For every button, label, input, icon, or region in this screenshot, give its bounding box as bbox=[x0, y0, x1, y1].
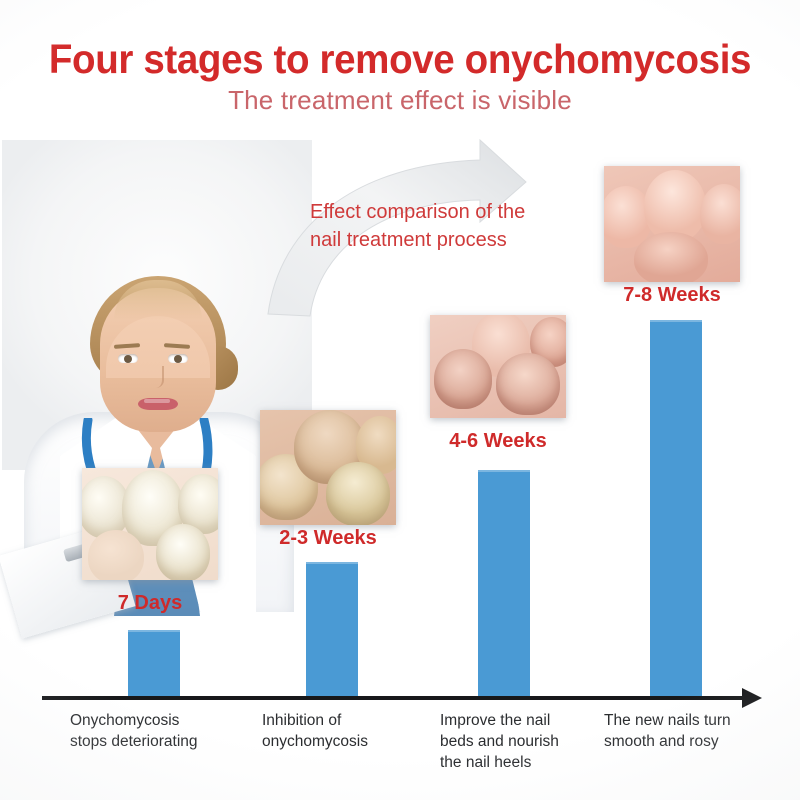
infographic-canvas: Four stages to remove onychomycosis The … bbox=[0, 0, 800, 800]
callout-line-2: nail treatment process bbox=[310, 226, 580, 254]
callout-line-1: Effect comparison of the bbox=[310, 198, 580, 226]
caption-line: the nail heels bbox=[440, 752, 600, 773]
stage-photo-3 bbox=[430, 315, 566, 418]
caption-line: Improve the nail bbox=[440, 710, 600, 731]
x-axis-arrowhead bbox=[742, 688, 762, 708]
caption-line: stops deteriorating bbox=[70, 731, 230, 752]
caption-line: Inhibition of bbox=[262, 710, 422, 731]
callout-text: Effect comparison of the nail treatment … bbox=[310, 198, 580, 254]
stage-time-label-2: 2-3 Weeks bbox=[260, 527, 396, 550]
page-subtitle: The treatment effect is visible bbox=[0, 85, 800, 116]
stage-time-label-1: 7 Days bbox=[82, 592, 218, 615]
bar-stage-2 bbox=[306, 562, 358, 698]
bar-stage-3 bbox=[478, 470, 530, 698]
nose bbox=[150, 366, 164, 388]
iris-left bbox=[124, 355, 132, 363]
stage-photo-1 bbox=[82, 468, 218, 580]
caption-line: Onychomycosis bbox=[70, 710, 230, 731]
stage-caption-2: Inhibition of onychomycosis bbox=[262, 710, 422, 752]
stage-caption-1: Onychomycosis stops deteriorating bbox=[70, 710, 230, 752]
page-title: Four stages to remove onychomycosis bbox=[24, 36, 776, 83]
caption-line: smooth and rosy bbox=[604, 731, 774, 752]
caption-line: beds and nourish bbox=[440, 731, 600, 752]
x-axis-line bbox=[42, 696, 754, 700]
bar-stage-1 bbox=[128, 630, 180, 698]
bar-stage-4 bbox=[650, 320, 702, 698]
stage-caption-3: Improve the nail beds and nourish the na… bbox=[440, 710, 600, 773]
caption-line: onychomycosis bbox=[262, 731, 422, 752]
stage-time-label-3: 4-6 Weeks bbox=[430, 430, 566, 453]
stage-photo-2 bbox=[260, 410, 396, 525]
stage-time-label-4: 7-8 Weeks bbox=[604, 284, 740, 307]
stage-caption-4: The new nails turn smooth and rosy bbox=[604, 710, 774, 752]
mouth-highlight bbox=[144, 399, 170, 403]
stage-photo-4 bbox=[604, 166, 740, 282]
iris-right bbox=[174, 355, 182, 363]
caption-line: The new nails turn bbox=[604, 710, 774, 731]
